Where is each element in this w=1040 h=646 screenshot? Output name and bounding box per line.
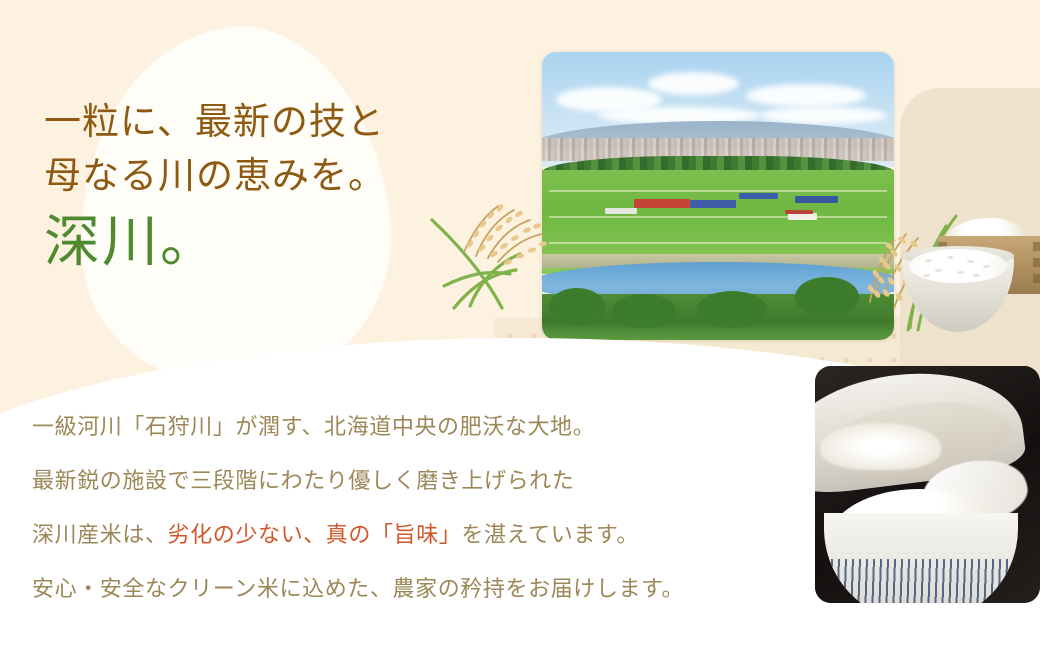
rice-grain [935, 269, 942, 272]
body-paragraph-4: 安心・安全なクリーン米に込めた、農家の矜持をお届けします。 [32, 562, 792, 616]
body-paragraph-3-prefix: 深川産米は、 [32, 522, 168, 547]
farm-building [739, 193, 778, 199]
field-divider [549, 190, 887, 192]
striped-rice-bowl [824, 513, 1018, 603]
promo-banner: 一粒に、最新の技と 母なる川の恵みを。 深川。 一級河川「石狩川」が潤す、北海道… [0, 0, 1040, 646]
field-divider [549, 216, 887, 218]
cloud-shape [746, 84, 866, 107]
body-paragraph-1: 一級河川「石狩川」が潤す、北海道中央の肥沃な大地。 [32, 400, 792, 454]
farm-building [690, 200, 736, 207]
masu-joint [1033, 242, 1040, 251]
bush-shape [549, 288, 605, 325]
polished-rice-surface [909, 249, 1007, 283]
steamed-rice-bowl-photo [815, 366, 1040, 603]
headline-line-1: 一粒に、最新の技と [44, 96, 504, 150]
rice-grain [957, 271, 964, 274]
cloud-shape [760, 107, 887, 124]
rice-grain [973, 274, 980, 277]
rice-grain [967, 260, 974, 263]
masu-joint [1033, 258, 1040, 267]
headline-block: 一粒に、最新の技と 母なる川の恵みを。 深川。 [44, 96, 504, 278]
headline-line-2: 母なる川の恵みを。 [44, 150, 504, 204]
rice-grain [901, 505, 919, 510]
rice-grain [923, 274, 930, 277]
cooker-rice [820, 423, 942, 470]
rice-grain [925, 259, 932, 262]
body-paragraph-3-highlight: 劣化の少ない、真の「旨味」 [168, 522, 462, 547]
bowl-stripe-pattern [824, 559, 1018, 603]
rice-grain [983, 265, 990, 268]
farm-building [605, 208, 637, 214]
field-divider [549, 242, 887, 244]
rice-grain [947, 256, 954, 259]
body-paragraph-3: 深川産米は、劣化の少ない、真の「旨味」を湛えています。 [32, 508, 792, 562]
masu-joint [1033, 274, 1040, 283]
white-bowl-of-polished-rice [902, 240, 1014, 332]
farm-building [785, 210, 813, 214]
body-copy-block: 一級河川「石狩川」が潤す、北海道中央の肥沃な大地。 最新鋭の施設で三段階にわたり… [32, 400, 792, 616]
body-paragraph-2: 最新鋭の施設で三段階にわたり優しく磨き上げられた [32, 454, 792, 508]
bush-shape [795, 277, 858, 317]
brand-name: 深川。 [44, 208, 504, 278]
cloud-shape [648, 72, 740, 95]
bush-shape [612, 294, 675, 329]
farm-building [634, 199, 690, 208]
farm-building [795, 196, 837, 203]
farm-building [788, 213, 816, 219]
aerial-rice-fields-landscape [542, 52, 894, 340]
body-paragraph-3-suffix: を湛えています。 [461, 522, 639, 547]
